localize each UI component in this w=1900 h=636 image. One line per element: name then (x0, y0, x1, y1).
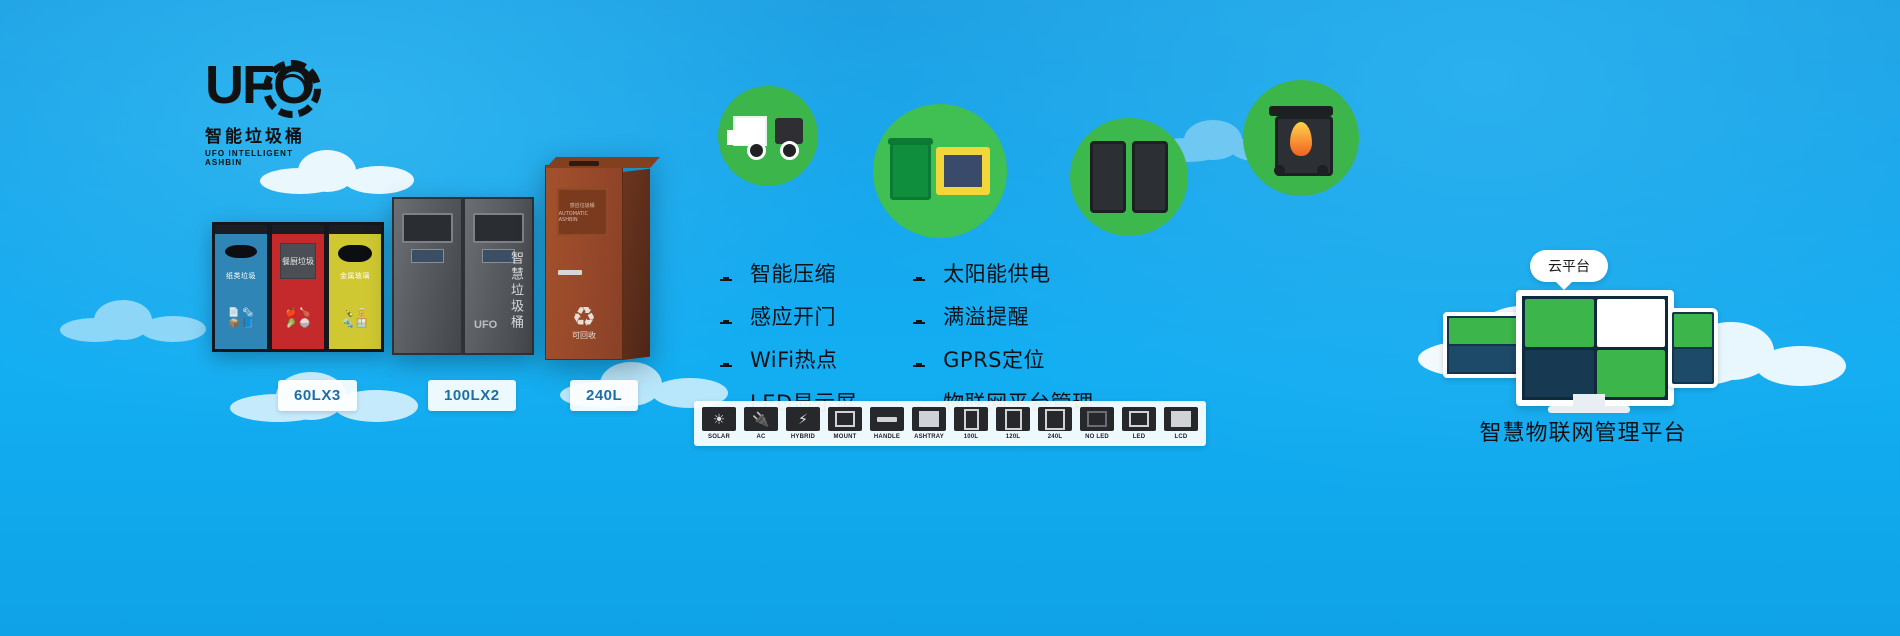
feature-item: 感应开门 (716, 301, 857, 331)
feature-circle-solar (873, 104, 1007, 238)
food-graphic-icon: 🍎 🍗🥬 🍚 (286, 307, 311, 330)
product-triple-bin: 纸类垃圾 📄 🗞📦 📘 餐厨垃圾 🍎 🍗🥬 🍚 金属玻璃 🍾 🥫🔩 🪟 (212, 222, 384, 352)
feature-list: 智能压缩 感应开门 WiFi热点 LED显示屏 太阳能供电 满溢提醒 (716, 258, 1094, 417)
bin-slot-icon (338, 245, 371, 262)
bin-sub-display (411, 249, 444, 263)
bin-large-icon (1038, 407, 1072, 431)
monitor-screen (1522, 296, 1668, 400)
option-label: ASHTRAY (914, 434, 944, 440)
feature-circle-fire (1243, 80, 1359, 196)
recycle-mark: ♻ 可回收 (572, 304, 596, 341)
truck-wheel-icon (780, 141, 799, 160)
capacity-badge-100lx2: 100LX2 (428, 380, 516, 411)
product-single-bin: 感应垃圾桶 AUTOMATIC ASHBIN ♻ 可回收 (545, 165, 650, 360)
metal-graphic-icon: 🍾 🥫🔩 🪟 (343, 307, 368, 330)
cloud-decoration (60, 300, 210, 344)
no-led-icon (1080, 407, 1114, 431)
option-ashtray[interactable]: ASHTRAY (911, 407, 947, 440)
cloud-platform-badge: 云平台 (1530, 250, 1608, 282)
bin-compartment-metal-glass: 金属玻璃 🍾 🥫🔩 🪟 (326, 222, 384, 352)
bin-compartment-kitchen: 餐厨垃圾 🍎 🍗🥬 🍚 (269, 222, 326, 352)
solar-panel-icon (936, 147, 990, 195)
bin-handle (558, 270, 582, 275)
bin-body: 🍾 🥫🔩 🪟 (329, 287, 381, 349)
bin-body: 📄 🗞📦 📘 (215, 287, 267, 349)
led-icon (1122, 407, 1156, 431)
platform-phone (1668, 308, 1718, 388)
option-hybrid[interactable]: ⚡ HYBRID (785, 407, 821, 440)
monitor-base (1548, 406, 1630, 413)
truck-wheel-icon (747, 141, 766, 160)
option-label: HYBRID (791, 434, 815, 440)
bin-label: 纸类垃圾 (226, 271, 256, 281)
option-mount[interactable]: MOUNT (827, 407, 863, 440)
feature-column-right: 太阳能供电 满溢提醒 GPRS定位 物联网平台管理 (909, 258, 1094, 417)
monitor-icon (909, 309, 929, 324)
option-120l[interactable]: 120L (995, 407, 1031, 440)
feature-circle-truck (718, 86, 818, 186)
feature-label: GPRS定位 (943, 344, 1045, 374)
option-strip: ☀ SOLAR 🔌 AC ⚡ HYBRID MOUNT HANDLE ASHTR… (694, 401, 1206, 446)
bin-control-strip (569, 161, 599, 166)
bin-label: 餐厨垃圾 (280, 243, 316, 279)
bin-side-body (623, 169, 650, 360)
option-label: HANDLE (874, 434, 900, 440)
lcd-icon (1164, 407, 1198, 431)
tablet-screen (1447, 316, 1519, 374)
option-lcd[interactable]: LCD (1163, 407, 1199, 440)
flame-icon (1290, 122, 1312, 156)
option-label: LCD (1175, 434, 1188, 440)
bin-body: 🍎 🍗🥬 🍚 (272, 287, 324, 349)
handle-icon (870, 407, 904, 431)
feature-column-left: 智能压缩 感应开门 WiFi热点 LED显示屏 (716, 258, 857, 417)
bin-brand-mark: UFO (474, 319, 497, 331)
bin-small-icon (954, 407, 988, 431)
logo-english-name: UFO INTELLIGENT ASHBIN (205, 149, 325, 167)
bin-display-panel (402, 213, 453, 243)
logo-ring-icon (263, 60, 321, 118)
phone-screen (1672, 312, 1714, 384)
bin-top-surface (546, 157, 660, 168)
bin-label: 金属玻璃 (340, 271, 370, 281)
option-led[interactable]: LED (1121, 407, 1157, 440)
bin-med-icon (996, 407, 1030, 431)
product-double-bin: 智慧垃圾桶 UFO (392, 197, 534, 355)
bin-face: 纸类垃圾 (215, 234, 267, 287)
dashboard-tile (1525, 299, 1594, 347)
recycle-graphic-icon: 📄 🗞📦 📘 (228, 307, 253, 330)
bin-front-body: 感应垃圾桶 AUTOMATIC ASHBIN ♻ 可回收 (545, 165, 623, 360)
feature-label: WiFi热点 (750, 344, 838, 374)
feature-label: 感应开门 (750, 301, 836, 331)
option-label: LED (1133, 434, 1146, 440)
bin-side-text: 智慧垃圾桶 (506, 251, 525, 331)
platform-caption: 智慧物联网管理平台 (1418, 415, 1748, 447)
logo-chinese-name: 智能垃圾桶 (205, 122, 325, 147)
panel-line-2: AUTOMATIC ASHBIN (559, 211, 606, 223)
bin-icon (1090, 141, 1126, 213)
feature-item: 满溢提醒 (909, 301, 1094, 331)
option-100l[interactable]: 100L (953, 407, 989, 440)
twin-bin-icon (1090, 141, 1168, 213)
logo-wordmark: UFO (205, 58, 325, 120)
feature-item: 智能压缩 (716, 258, 857, 288)
monitor-icon (716, 352, 736, 367)
bin-face: 餐厨垃圾 (272, 234, 324, 287)
feature-label: 满溢提醒 (943, 301, 1029, 331)
lightning-icon: ⚡ (786, 407, 820, 431)
bin-top (215, 225, 267, 234)
option-label: NO LED (1085, 434, 1109, 440)
option-no-led[interactable]: NO LED (1079, 407, 1115, 440)
dashboard-tile (1597, 350, 1666, 398)
ashtray-icon (912, 407, 946, 431)
mount-icon (828, 407, 862, 431)
bin-unit-left (392, 197, 463, 355)
platform-tablet (1443, 312, 1523, 378)
truck-box2-icon (727, 130, 747, 145)
bin-compartment-paper: 纸类垃圾 📄 🗞📦 📘 (212, 222, 269, 352)
platform-monitor (1516, 290, 1674, 406)
bin-unit-right: 智慧垃圾桶 UFO (463, 197, 534, 355)
feature-circle-twin-bins (1070, 118, 1188, 236)
option-label: 120L (1006, 434, 1020, 440)
bin-top (329, 225, 381, 234)
option-label: MOUNT (834, 434, 857, 440)
monitor-icon (716, 266, 736, 281)
capacity-badge-240l: 240L (570, 380, 638, 411)
option-handle[interactable]: HANDLE (869, 407, 905, 440)
sun-icon: ☀ (702, 407, 736, 431)
option-label: 100L (964, 434, 978, 440)
monitor-icon (909, 266, 929, 281)
bin-sensor-panel: 感应垃圾桶 AUTOMATIC ASHBIN (557, 188, 608, 236)
brand-logo: UFO 智能垃圾桶 UFO INTELLIGENT ASHBIN (205, 58, 325, 153)
bin-icon (1132, 141, 1168, 213)
feature-label: 智能压缩 (750, 258, 836, 288)
option-ac[interactable]: 🔌 AC (743, 407, 779, 440)
feature-item: WiFi热点 (716, 344, 857, 374)
capacity-badge-60lx3: 60LX3 (278, 380, 357, 411)
plug-icon: 🔌 (744, 407, 778, 431)
option-label: SOLAR (708, 434, 730, 440)
fire-bin-icon (1266, 102, 1336, 174)
monitor-icon (716, 309, 736, 324)
feature-label: 太阳能供电 (943, 258, 1051, 288)
feature-item: GPRS定位 (909, 344, 1094, 374)
option-label: AC (756, 434, 765, 440)
bin-display-panel (473, 213, 524, 243)
option-label: 240L (1048, 434, 1062, 440)
option-solar[interactable]: ☀ SOLAR (701, 407, 737, 440)
option-240l[interactable]: 240L (1037, 407, 1073, 440)
solar-panel-bin-icon (890, 138, 990, 204)
truck-icon (733, 112, 803, 160)
solar-bin-icon (890, 142, 931, 200)
wheel-icon (1274, 165, 1285, 176)
dashboard-chart-tile (1597, 299, 1666, 347)
fire-bin-lid-icon (1269, 106, 1333, 116)
feature-item: 太阳能供电 (909, 258, 1094, 288)
bin-top (272, 225, 324, 234)
recycle-label: 可回收 (572, 330, 596, 341)
bin-slot-icon (225, 245, 257, 258)
monitor-icon (909, 352, 929, 367)
wheel-icon (1317, 165, 1328, 176)
dashboard-tile (1525, 350, 1594, 398)
banner-stage: UFO 智能垃圾桶 UFO INTELLIGENT ASHBIN 纸类垃圾 📄 … (0, 0, 1900, 636)
bin-face: 金属玻璃 (329, 234, 381, 287)
recycle-symbol-icon: ♻ (572, 304, 596, 330)
panel-line-1: 感应垃圾桶 (570, 202, 595, 209)
